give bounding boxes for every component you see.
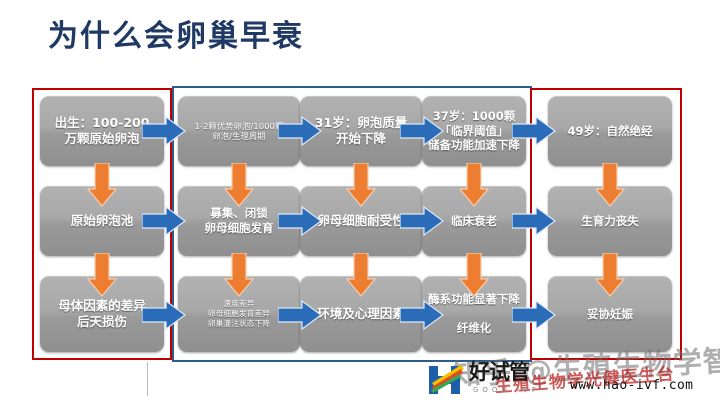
page-title: 为什么会卵巢早衰 [48, 20, 304, 53]
arrow-down-c1r1 [87, 163, 117, 207]
arrow-down-c2r2 [224, 253, 254, 297]
flow-node-c5r1[interactable]: 49岁：自然绝经 [548, 96, 672, 166]
arrow-right-r3c4 [512, 300, 556, 330]
arrow-down-c3r1 [346, 163, 376, 207]
arrow-down-c5r2 [595, 253, 625, 297]
arrow-right-r3c1 [142, 300, 186, 330]
arrow-down-c4r2 [459, 253, 489, 297]
brand-url: www.hao-ivf.com [570, 378, 693, 393]
arrow-down-c4r1 [459, 163, 489, 207]
slide-canvas: 为什么会卵巢早衰 出生：100-200 万颗原始卵泡 原始卵泡池 母体因素的差异… [0, 0, 720, 402]
arrow-down-c2r1 [224, 163, 254, 207]
arrow-right-r2c1 [142, 206, 186, 236]
arrow-right-r1c3 [400, 116, 444, 146]
arrow-right-r3c3 [400, 300, 444, 330]
arrow-right-r3c2 [278, 300, 322, 330]
arrow-down-c3r2 [346, 253, 376, 297]
arrow-right-r1c1 [142, 116, 186, 146]
logo-h-mark-icon [427, 363, 467, 397]
arrow-right-r1c4 [512, 116, 556, 146]
logo-english-name: GOOD IVF [473, 386, 540, 394]
logo-divider [147, 362, 148, 396]
arrow-down-c1r2 [87, 253, 117, 297]
arrow-right-r2c3 [400, 206, 444, 236]
logo-chinese-name: 好试管 [469, 362, 529, 383]
brand-logo: 好试管 GOOD IVF [427, 360, 572, 400]
arrow-down-c5r1 [595, 163, 625, 207]
arrow-right-r2c4 [512, 206, 556, 236]
arrow-right-r1c2 [278, 116, 322, 146]
arrow-right-r2c2 [278, 206, 322, 236]
